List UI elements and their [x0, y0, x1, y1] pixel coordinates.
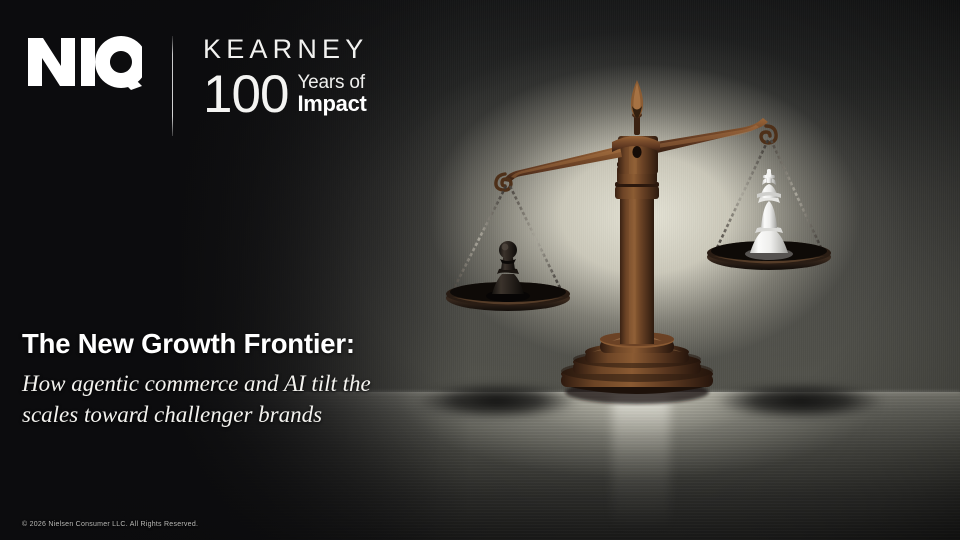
kearney-anniversary: 100 Years of Impact	[203, 72, 368, 119]
logo-lockup: KEARNEY 100 Years of Impact	[26, 34, 368, 136]
anniversary-years-of: Years of	[297, 73, 366, 93]
title-block: The New Growth Frontier: How agentic com…	[22, 328, 452, 431]
kearney-logo: KEARNEY 100 Years of Impact	[203, 34, 368, 119]
title-slide: KEARNEY 100 Years of Impact The New Grow…	[0, 0, 960, 540]
copyright-notice: © 2026 Nielsen Consumer LLC. All Rights …	[22, 521, 198, 528]
kearney-wordmark: KEARNEY	[203, 36, 368, 63]
anniversary-number: 100	[203, 72, 288, 119]
niq-logo	[26, 34, 142, 90]
logo-divider	[172, 36, 173, 136]
page-title: The New Growth Frontier:	[22, 328, 452, 360]
page-subtitle: How agentic commerce and AI tilt the sca…	[22, 369, 452, 430]
subtitle-line-1: How agentic commerce and AI tilt the	[22, 371, 371, 396]
anniversary-impact: Impact	[297, 93, 366, 116]
subtitle-line-2: scales toward challenger brands	[22, 402, 322, 427]
